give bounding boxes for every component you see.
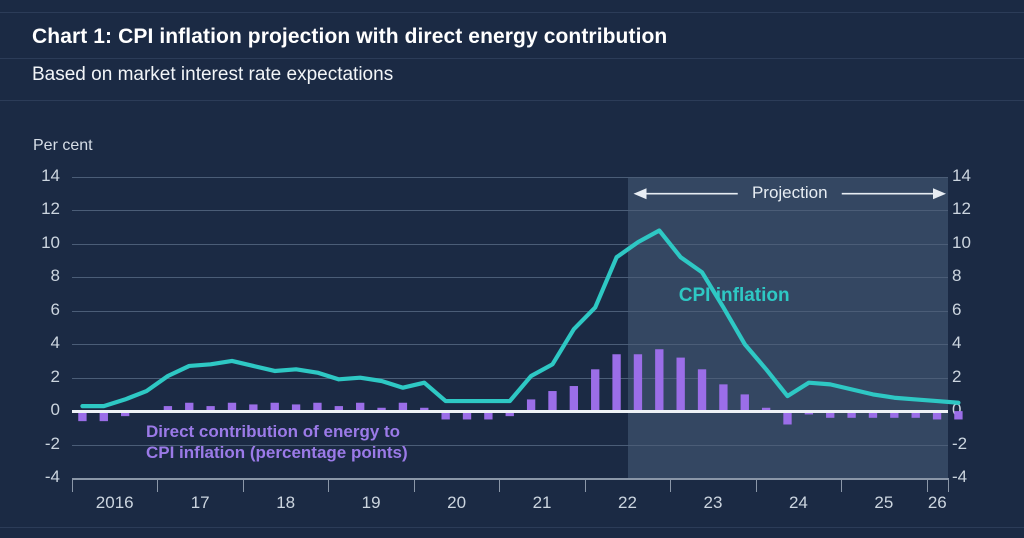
chart-header: Chart 1: CPI inflation projection with d… bbox=[0, 0, 1024, 104]
projection-label: Projection bbox=[752, 183, 828, 203]
header-rule-mid bbox=[0, 58, 1024, 59]
page-subtitle: Based on market interest rate expectatio… bbox=[32, 64, 393, 86]
cpi-inflation-annotation: CPI inflation bbox=[679, 285, 790, 307]
projection-arrow-head-left bbox=[634, 188, 647, 199]
header-rule-bottom bbox=[0, 100, 1024, 101]
energy-annotation-line-2: CPI inflation (percentage points) bbox=[146, 442, 408, 463]
chart-area: Per cent 1414121210108866442200-2-2-4-4 … bbox=[0, 104, 1024, 538]
projection-arrow bbox=[0, 104, 1024, 538]
energy-annotation-line-1: Direct contribution of energy to bbox=[146, 421, 408, 442]
chart-page: Chart 1: CPI inflation projection with d… bbox=[0, 0, 1024, 538]
energy-contribution-annotation: Direct contribution of energy to CPI inf… bbox=[146, 421, 408, 464]
footer-rule bbox=[0, 527, 1024, 528]
projection-arrow-head-right bbox=[933, 188, 946, 199]
header-rule-top bbox=[0, 12, 1024, 13]
page-title: Chart 1: CPI inflation projection with d… bbox=[32, 25, 667, 49]
